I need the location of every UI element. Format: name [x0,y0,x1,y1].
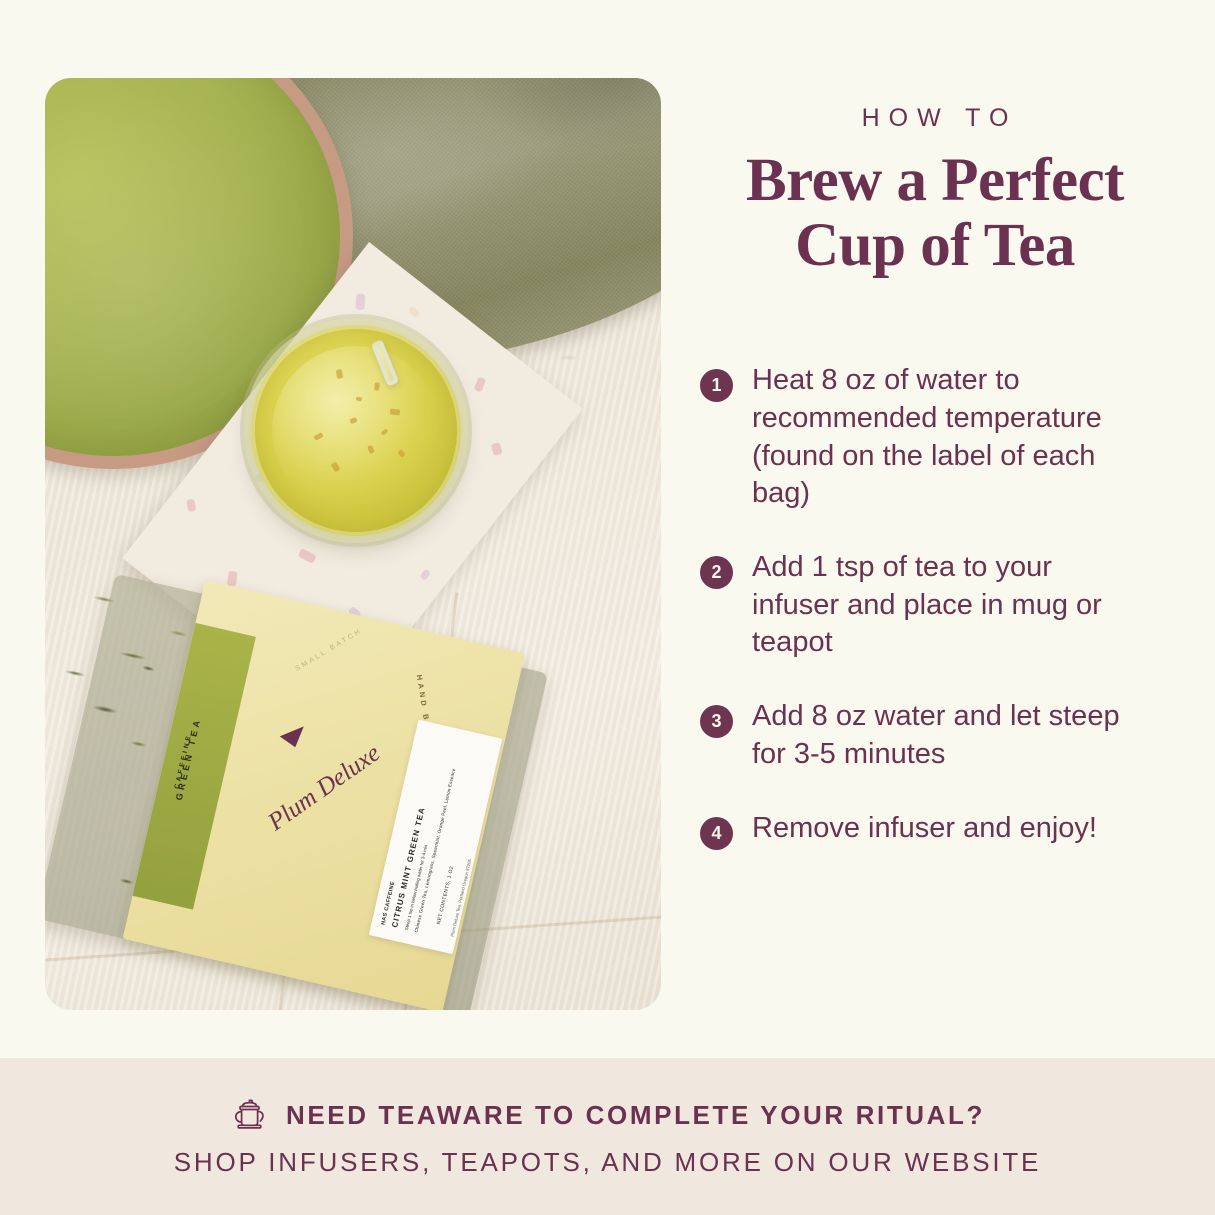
terrazzo-chip [298,547,317,563]
step-item: 3Add 8 oz water and let steep for 3-5 mi… [700,698,1170,773]
step-text: Remove infuser and enjoy! [752,810,1097,848]
footer-cta-band: NEED TEAWARE TO COMPLETE YOUR RITUAL? SH… [0,1058,1215,1215]
floating-tea-leaf [356,396,363,401]
floating-tea-leaf [389,409,400,416]
poster-canvas: GREEN TEA CAFFEINE SMALL BATCH Plum Delu… [0,0,1215,1215]
floating-tea-leaf [336,369,343,379]
terrazzo-chip [474,377,487,393]
terrazzo-chip [420,569,432,581]
floating-tea-leaf [331,462,341,473]
kicker-label: HOW TO [700,104,1170,133]
floating-tea-leaf [314,433,324,442]
instructions-panel: HOW TO Brew a Perfect Cup of Tea 1Heat 8… [700,78,1170,886]
footer-headline-row: NEED TEAWARE TO COMPLETE YOUR RITUAL? [230,1096,985,1136]
page-title: Brew a Perfect Cup of Tea [700,149,1170,278]
small-batch-watermark: SMALL BATCH [294,627,363,672]
step-text: Heat 8 oz of water to recommended temper… [752,362,1142,513]
cup-handle [371,339,399,386]
step-number-badge: 1 [700,369,733,402]
terrazzo-chip [408,306,421,319]
net-contents: NET CONTENTS, 1 OZ [436,865,455,925]
floating-tea-leaf [381,429,389,436]
ingredients-text: Chinese Green Tea, Lemongrass, Spearmint… [413,767,458,933]
floating-tea-leaf [397,450,405,459]
step-number-badge: 2 [700,556,733,589]
step-item: 4Remove infuser and enjoy! [700,810,1170,850]
steps-list: 1Heat 8 oz of water to recommended tempe… [700,362,1170,849]
step-item: 1Heat 8 oz of water to recommended tempe… [700,362,1170,513]
brand-name: Plum Deluxe [263,739,385,836]
step-number-badge: 4 [700,817,733,850]
cracker [45,78,47,139]
step-text: Add 8 oz water and let steep for 3-5 min… [752,698,1142,773]
terrazzo-chip [356,293,366,310]
terrazzo-chip [187,499,197,512]
step-text: Add 1 tsp of tea to your infuser and pla… [752,549,1142,662]
bird-logo-icon [280,718,308,747]
floating-tea-leaf [374,382,380,391]
floating-tea-leaf [349,416,357,423]
step-number-badge: 3 [700,705,733,738]
teapot-icon [230,1096,270,1136]
headline-line-2: Cup of Tea [700,214,1170,279]
floating-tea-leaf [367,445,375,454]
terrazzo-chip [491,442,503,456]
headline-line-1: Brew a Perfect [700,149,1170,214]
photo-scene: GREEN TEA CAFFEINE SMALL BATCH Plum Delu… [45,78,661,1010]
glass-teacup [251,325,460,536]
step-item: 2Add 1 tsp of tea to your infuser and pl… [700,549,1170,662]
footer-line-1: NEED TEAWARE TO COMPLETE YOUR RITUAL? [286,1100,985,1131]
hero-photo: GREEN TEA CAFFEINE SMALL BATCH Plum Delu… [45,78,661,1010]
footer-line-2: SHOP INFUSERS, TEAPOTS, AND MORE ON OUR … [174,1147,1041,1178]
